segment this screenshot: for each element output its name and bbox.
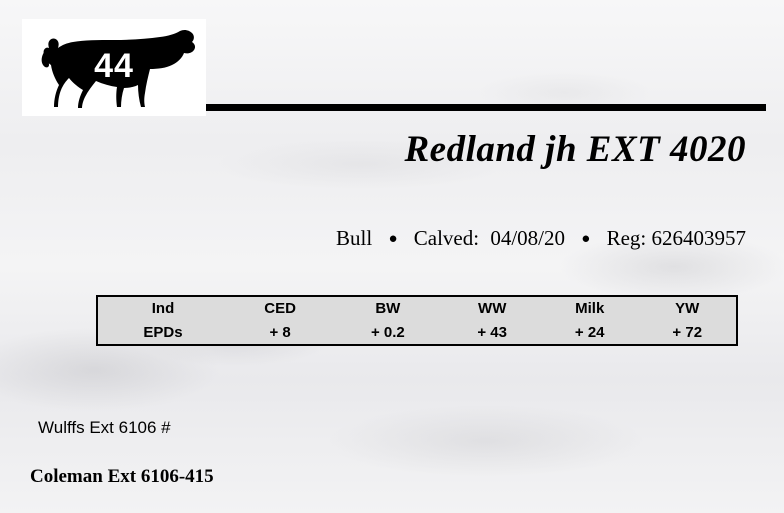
reg-number: 626403957: [652, 226, 747, 250]
sex-label: Bull: [336, 226, 372, 250]
epd-col-bw: BW: [332, 297, 443, 321]
epd-row-label-epds: EPDs: [98, 321, 228, 345]
epd-col-ced: CED: [228, 297, 332, 321]
epd-value-milk: + 24: [541, 321, 639, 345]
lot-number: 44: [22, 49, 206, 83]
epd-header-row: Ind CED BW WW Milk YW: [98, 297, 736, 321]
epd-col-ww: WW: [443, 297, 541, 321]
epd-summary-table: Ind CED BW WW Milk YW EPDs + 8 + 0.2 + 4…: [96, 295, 738, 346]
epd-col-yw: YW: [638, 297, 736, 321]
pedigree-left-sire: Coleman Ext 6106-415: [30, 467, 784, 486]
bullet-separator-icon-2: ●: [581, 231, 590, 248]
calved-date: 04/08/20: [490, 226, 565, 250]
epd-value-row: EPDs + 8 + 0.2 + 43 + 24 + 72: [98, 321, 736, 345]
sale-catalog-page: 44 Redland jh EXT 4020 Bull ● Calved: 04…: [0, 0, 784, 513]
epd-value-ced: + 8: [228, 321, 332, 345]
pedigree-left-sire-sire: Wulffs Ext 6106 #: [38, 419, 784, 436]
animal-details-line: Bull ● Calved: 04/08/20 ● Reg: 626403957: [0, 226, 746, 251]
epd-value-ww: + 43: [443, 321, 541, 345]
animal-name-title: Redland jh EXT 4020: [0, 128, 746, 171]
calved-label: Calved:: [414, 226, 479, 250]
epd-value-yw: + 72: [638, 321, 736, 345]
reg-label: Reg:: [607, 226, 647, 250]
epd-row-label-ind: Ind: [98, 297, 228, 321]
lot-photo-box: 44: [22, 19, 206, 116]
bullet-separator-icon: ●: [388, 231, 397, 248]
epd-value-bw: + 0.2: [332, 321, 443, 345]
epd-col-milk: Milk: [541, 297, 639, 321]
